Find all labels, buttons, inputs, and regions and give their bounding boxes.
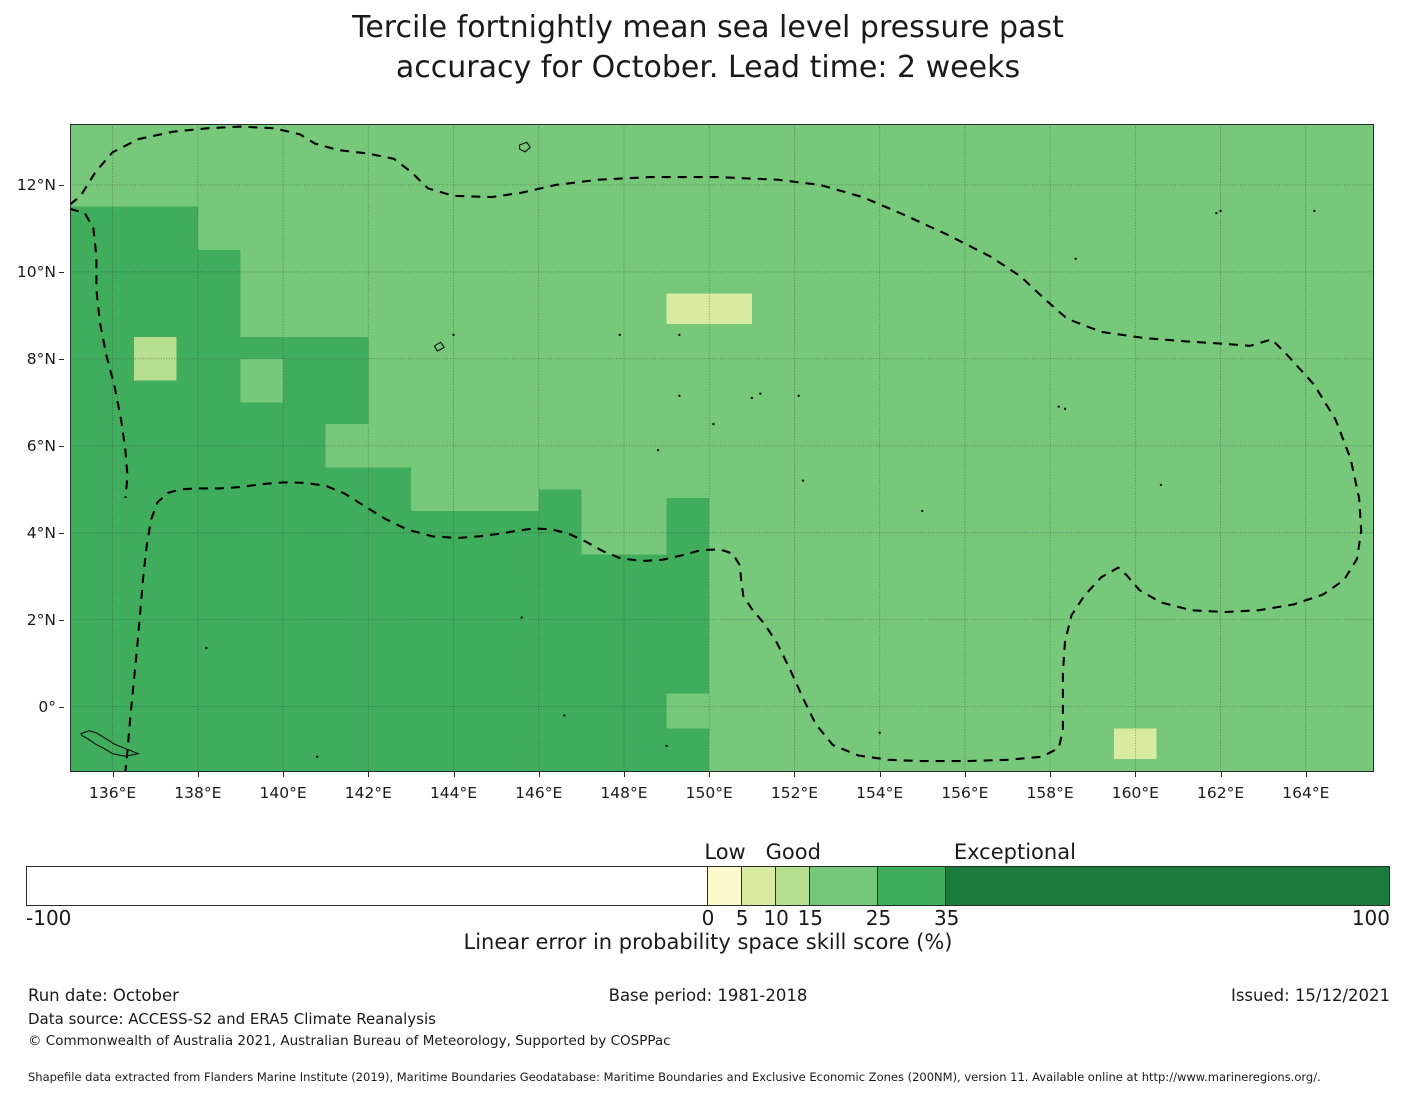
colorbar-segment — [810, 867, 878, 905]
colorbar-tick-label: 5 — [736, 906, 749, 930]
x-tick-label: 162°E — [1197, 784, 1244, 802]
x-tick-mark — [624, 772, 625, 777]
map-canvas — [70, 124, 1374, 772]
x-tick-mark — [368, 772, 369, 777]
heatmap-cell — [539, 489, 582, 554]
island-dot — [563, 714, 565, 716]
x-tick-label: 152°E — [771, 784, 818, 802]
colorbar-tick-label: 10 — [763, 906, 788, 930]
island-dot — [657, 449, 659, 451]
y-tick-mark — [59, 620, 64, 621]
x-tick-mark — [1221, 772, 1222, 777]
colorbar-gradient — [26, 866, 1390, 906]
x-tick-label: 136°E — [89, 784, 136, 802]
island-dot — [678, 334, 680, 336]
colorbar-categories: LowGoodExceptional — [26, 840, 1390, 866]
footer-data-source: Data source: ACCESS-S2 and ERA5 Climate … — [28, 1010, 436, 1028]
colorbar-segment — [742, 867, 776, 905]
y-tick-label: 6°N — [27, 437, 56, 455]
x-tick-mark — [794, 772, 795, 777]
x-tick-label: 144°E — [430, 784, 477, 802]
colorbar-segment — [878, 867, 946, 905]
heatmap-cell — [240, 359, 283, 402]
x-tick-label: 146°E — [515, 784, 562, 802]
island-dot — [712, 423, 714, 425]
colorbar-tick-label: 15 — [798, 906, 823, 930]
colorbar-category-label: Exceptional — [954, 840, 1076, 864]
x-tick-label: 140°E — [259, 784, 306, 802]
island-dot — [316, 756, 318, 758]
island-dot — [1064, 408, 1066, 410]
y-tick-mark — [59, 272, 64, 273]
x-tick-label: 164°E — [1282, 784, 1329, 802]
x-tick-label: 150°E — [686, 784, 733, 802]
x-tick-label: 156°E — [941, 784, 988, 802]
x-tick-label: 160°E — [1112, 784, 1159, 802]
y-tick-label: 2°N — [27, 611, 56, 629]
colorbar-segment — [708, 867, 742, 905]
x-tick-mark — [113, 772, 114, 777]
colorbar-tick-label: 100 — [1352, 906, 1390, 930]
colorbar-tick-label: 25 — [866, 906, 891, 930]
heatmap-cell — [667, 694, 710, 729]
x-axis: 136°E138°E140°E142°E144°E146°E148°E150°E… — [70, 772, 1374, 812]
x-tick-mark — [709, 772, 710, 777]
colorbar-segment — [27, 867, 708, 905]
island-dot — [619, 334, 621, 336]
footer-copyright: © Commonwealth of Australia 2021, Austra… — [28, 1033, 671, 1049]
x-tick-label: 154°E — [856, 784, 903, 802]
colorbar-tick-label: 0 — [702, 906, 715, 930]
y-tick-label: 4°N — [27, 524, 56, 542]
heatmap-cell — [667, 498, 710, 555]
island-dot — [802, 479, 804, 481]
colorbar-axis-label: Linear error in probability space skill … — [0, 930, 1416, 954]
y-tick-mark — [59, 359, 64, 360]
island-dot — [751, 397, 753, 399]
y-axis: 0°2°N4°N6°N8°N10°N12°N — [0, 124, 64, 772]
y-tick-mark — [59, 446, 64, 447]
footer: Run date: October Base period: 1981-2018… — [0, 986, 1416, 1095]
colorbar-category-label: Good — [766, 840, 821, 864]
island-dot — [921, 510, 923, 512]
x-tick-mark — [965, 772, 966, 777]
island-dot — [1219, 210, 1221, 212]
y-tick-label: 8°N — [27, 350, 56, 368]
y-tick-label: 0° — [38, 698, 56, 716]
heatmap-cell — [240, 294, 283, 337]
page-title: Tercile fortnightly mean sea level press… — [0, 8, 1416, 87]
x-tick-mark — [198, 772, 199, 777]
x-tick-label: 148°E — [600, 784, 647, 802]
heatmap-cell — [496, 555, 709, 772]
colorbar-category-label: Low — [704, 840, 745, 864]
x-tick-mark — [454, 772, 455, 777]
heatmap-cell — [326, 511, 496, 772]
x-tick-label: 142°E — [345, 784, 392, 802]
y-tick-mark — [59, 185, 64, 186]
x-tick-mark — [1135, 772, 1136, 777]
map-plot-area[interactable] — [70, 124, 1374, 772]
x-tick-mark — [880, 772, 881, 777]
y-tick-label: 10°N — [17, 263, 56, 281]
x-tick-label: 138°E — [174, 784, 221, 802]
y-tick-mark — [59, 707, 64, 708]
heatmap-cell — [70, 337, 368, 424]
island-dot — [1074, 258, 1076, 260]
island-dot — [678, 395, 680, 397]
colorbar[interactable] — [26, 866, 1390, 906]
island-dot — [1313, 210, 1315, 212]
island-dot — [759, 392, 761, 394]
island-dot — [1160, 484, 1162, 486]
x-tick-mark — [1306, 772, 1307, 777]
footer-base-period: Base period: 1981-2018 — [0, 986, 1416, 1005]
footer-issued-date: Issued: 15/12/2021 — [1231, 986, 1390, 1005]
colorbar-segment — [946, 867, 1389, 905]
island-dot — [1057, 405, 1059, 407]
colorbar-segment — [776, 867, 810, 905]
island-dot — [665, 745, 667, 747]
y-tick-label: 12°N — [17, 176, 56, 194]
y-tick-mark — [59, 533, 64, 534]
island-dot — [798, 395, 800, 397]
island-dot — [878, 732, 880, 734]
island-dot — [1215, 212, 1217, 214]
x-tick-label: 158°E — [1027, 784, 1074, 802]
island-dot — [205, 647, 207, 649]
x-tick-mark — [283, 772, 284, 777]
footer-shapefile-credit: Shapefile data extracted from Flanders M… — [28, 1070, 1321, 1084]
x-tick-mark — [539, 772, 540, 777]
colorbar-tick-label: 35 — [934, 906, 959, 930]
island-dot — [452, 334, 454, 336]
map-figure — [70, 124, 1374, 772]
island-dot — [521, 616, 523, 618]
x-tick-mark — [1050, 772, 1051, 777]
colorbar-tick-label: -100 — [26, 906, 71, 930]
